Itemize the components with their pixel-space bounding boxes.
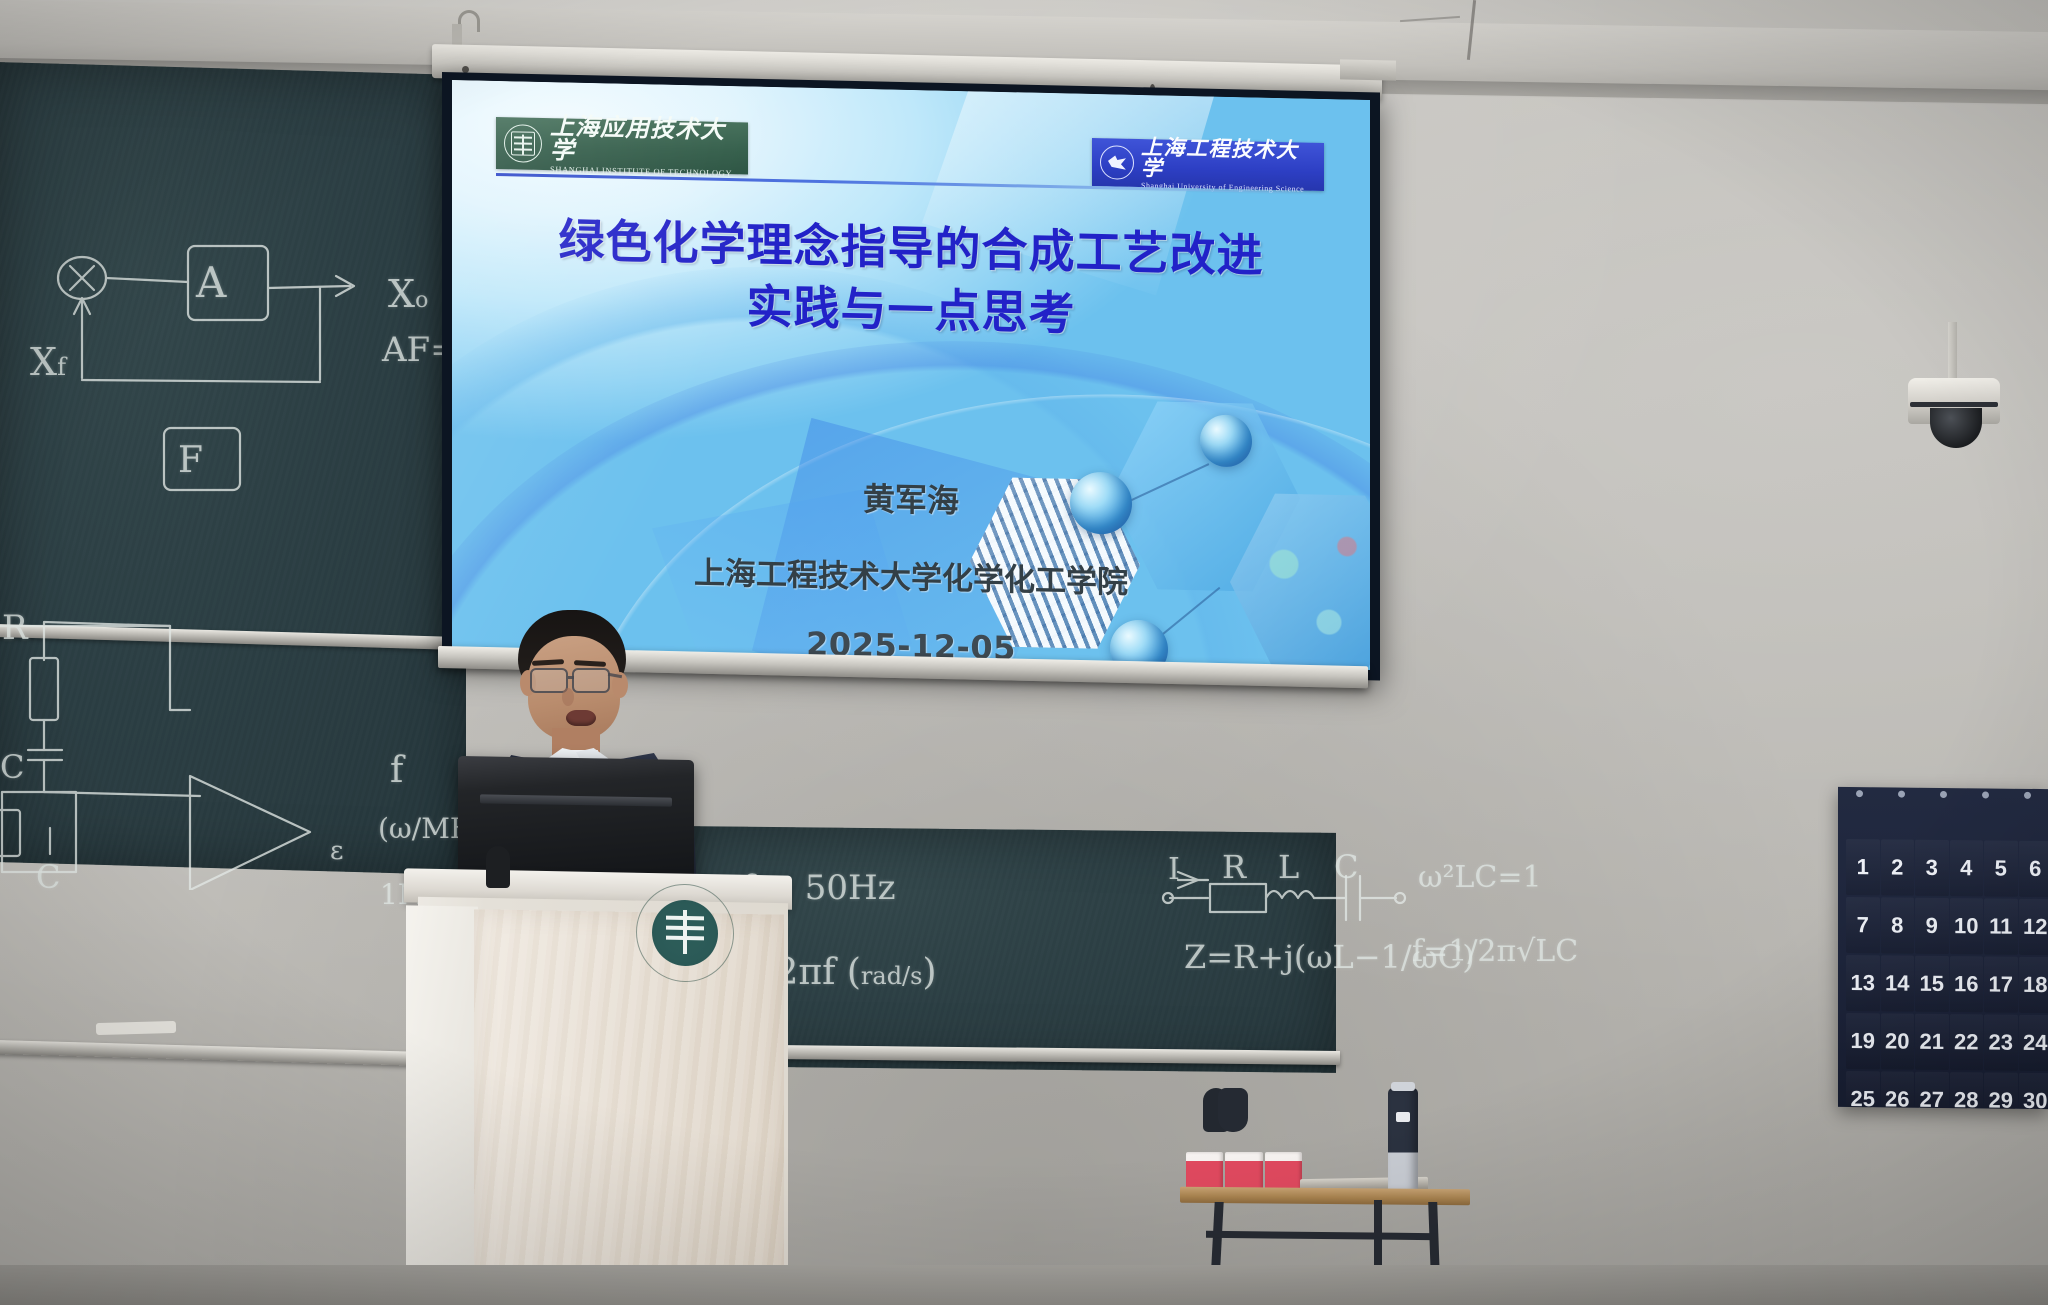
- podium-left-panel: [406, 905, 478, 1305]
- pocket-chart-cell[interactable]: 3: [1915, 840, 1949, 896]
- pocket-chart-cell[interactable]: 28: [1950, 1072, 1984, 1109]
- pocket-chart-cell[interactable]: 8: [1881, 897, 1915, 953]
- pocket-chart-cell[interactable]: 19: [1846, 1013, 1880, 1069]
- sit-seal-inner-glyph: [511, 131, 535, 156]
- pocket-chart-cell[interactable]: 11: [1984, 898, 2018, 954]
- wall-mounted-bracket: [1218, 1088, 1248, 1132]
- pocket-chart-cell[interactable]: 30: [2019, 1073, 2048, 1109]
- pocket-chart-cell[interactable]: 9: [1915, 898, 1949, 954]
- pocket-chart-cell[interactable]: 15: [1915, 956, 1949, 1012]
- sit-logo-text: 上海应用技术大学 SHANGHAI INSTITUTE OF TECHNOLOG…: [550, 114, 740, 178]
- sit-logo-cn: 上海应用技术大学: [550, 114, 740, 166]
- logo-shanghai-university-engineering-science: 上海工程技术大学 Shanghai University of Engineer…: [1092, 138, 1324, 191]
- pocket-chart-cell[interactable]: 25: [1846, 1071, 1880, 1109]
- presenter-nose: [562, 688, 574, 706]
- blackboard-left: [0, 62, 466, 875]
- thermos-cap: [1391, 1082, 1415, 1091]
- glasses-lens-left: [530, 668, 568, 693]
- thermos-bottle: [1388, 1088, 1418, 1192]
- pocket-chart-cell[interactable]: 20: [1881, 1013, 1915, 1069]
- pocket-chart-cell[interactable]: 17: [1984, 956, 2018, 1012]
- pocket-chart-cell[interactable]: 10: [1950, 898, 1984, 954]
- pocket-chart-cell[interactable]: 4: [1950, 840, 1984, 896]
- pocket-chart-cell[interactable]: 26: [1881, 1071, 1915, 1109]
- lecture-hall-photo: A Xf Xo F AF=1 {|AF {∠AF R C C f (ω/MHz …: [0, 0, 2048, 1305]
- pin: [1940, 791, 1947, 798]
- pocket-chart-cell[interactable]: 7: [1846, 897, 1880, 953]
- glasses-lens-right: [572, 668, 610, 693]
- pocket-chart-cell[interactable]: 18: [2019, 957, 2048, 1013]
- pocket-chart-cell[interactable]: 23: [1984, 1014, 2018, 1070]
- screen-housing-end-cap: [1340, 59, 1396, 80]
- pocket-chart-cell[interactable]: 5: [1984, 840, 2018, 896]
- pin: [1982, 791, 1989, 798]
- pocket-chart-cell[interactable]: 29: [1984, 1072, 2018, 1109]
- presenter-mouth: [566, 710, 596, 726]
- sues-seal-icon: [1100, 145, 1134, 180]
- podium-seal-icon: [636, 883, 734, 983]
- sues-logo-cn: 上海工程技术大学: [1141, 137, 1316, 183]
- podium-microphone[interactable]: [486, 846, 510, 888]
- camera-mount-arm: [1948, 322, 1957, 384]
- slide-title: 绿色化学理念指导的合成工艺改进 实践与一点思考: [512, 209, 1310, 350]
- pocket-chart-pins: [1838, 790, 2048, 802]
- molecule-sphere-2: [1200, 414, 1252, 467]
- phone-pocket-chart[interactable]: 1234567891011121314151617181920212223242…: [1838, 787, 2048, 1109]
- pocket-chart-cell[interactable]: 22: [1950, 1014, 1984, 1070]
- pocket-chart-cell[interactable]: 12: [2019, 899, 2048, 955]
- pocket-chart-cell[interactable]: 6: [2019, 841, 2048, 897]
- pocket-chart-cell[interactable]: 16: [1950, 956, 1984, 1012]
- pocket-chart-cell[interactable]: 24: [2019, 1015, 2048, 1071]
- sues-logo-text: 上海工程技术大学 Shanghai University of Engineer…: [1141, 137, 1316, 194]
- pocket-chart-cell[interactable]: 2: [1881, 839, 1915, 895]
- sit-seal-icon: [504, 124, 542, 163]
- pocket-chart-cell[interactable]: 1: [1846, 839, 1880, 895]
- pin: [2024, 792, 2031, 799]
- glasses-bridge: [568, 676, 574, 679]
- floor: [0, 1265, 2048, 1305]
- pocket-chart-grid: 1234567891011121314151617181920212223242…: [1846, 839, 2048, 1109]
- monitor-bezel-strip: [480, 794, 672, 806]
- pocket-chart-cell[interactable]: 13: [1846, 955, 1880, 1011]
- chalk-eraser[interactable]: [96, 1021, 176, 1035]
- thermos-label: [1396, 1112, 1410, 1122]
- pocket-chart-cell[interactable]: 14: [1881, 955, 1915, 1011]
- dome-camera-band: [1910, 402, 1998, 407]
- podium-front-panel: [474, 909, 784, 1305]
- podium-seal-inner-glyph: [652, 899, 718, 966]
- pin: [1898, 791, 1905, 798]
- presentation-slide: 上海应用技术大学 SHANGHAI INSTITUTE OF TECHNOLOG…: [452, 80, 1370, 670]
- pocket-chart-cell[interactable]: 21: [1915, 1014, 1949, 1070]
- pocket-chart-cell[interactable]: 27: [1915, 1072, 1949, 1109]
- pin: [1856, 790, 1863, 797]
- logo-shanghai-institute-of-technology: 上海应用技术大学 SHANGHAI INSTITUTE OF TECHNOLOG…: [496, 117, 748, 174]
